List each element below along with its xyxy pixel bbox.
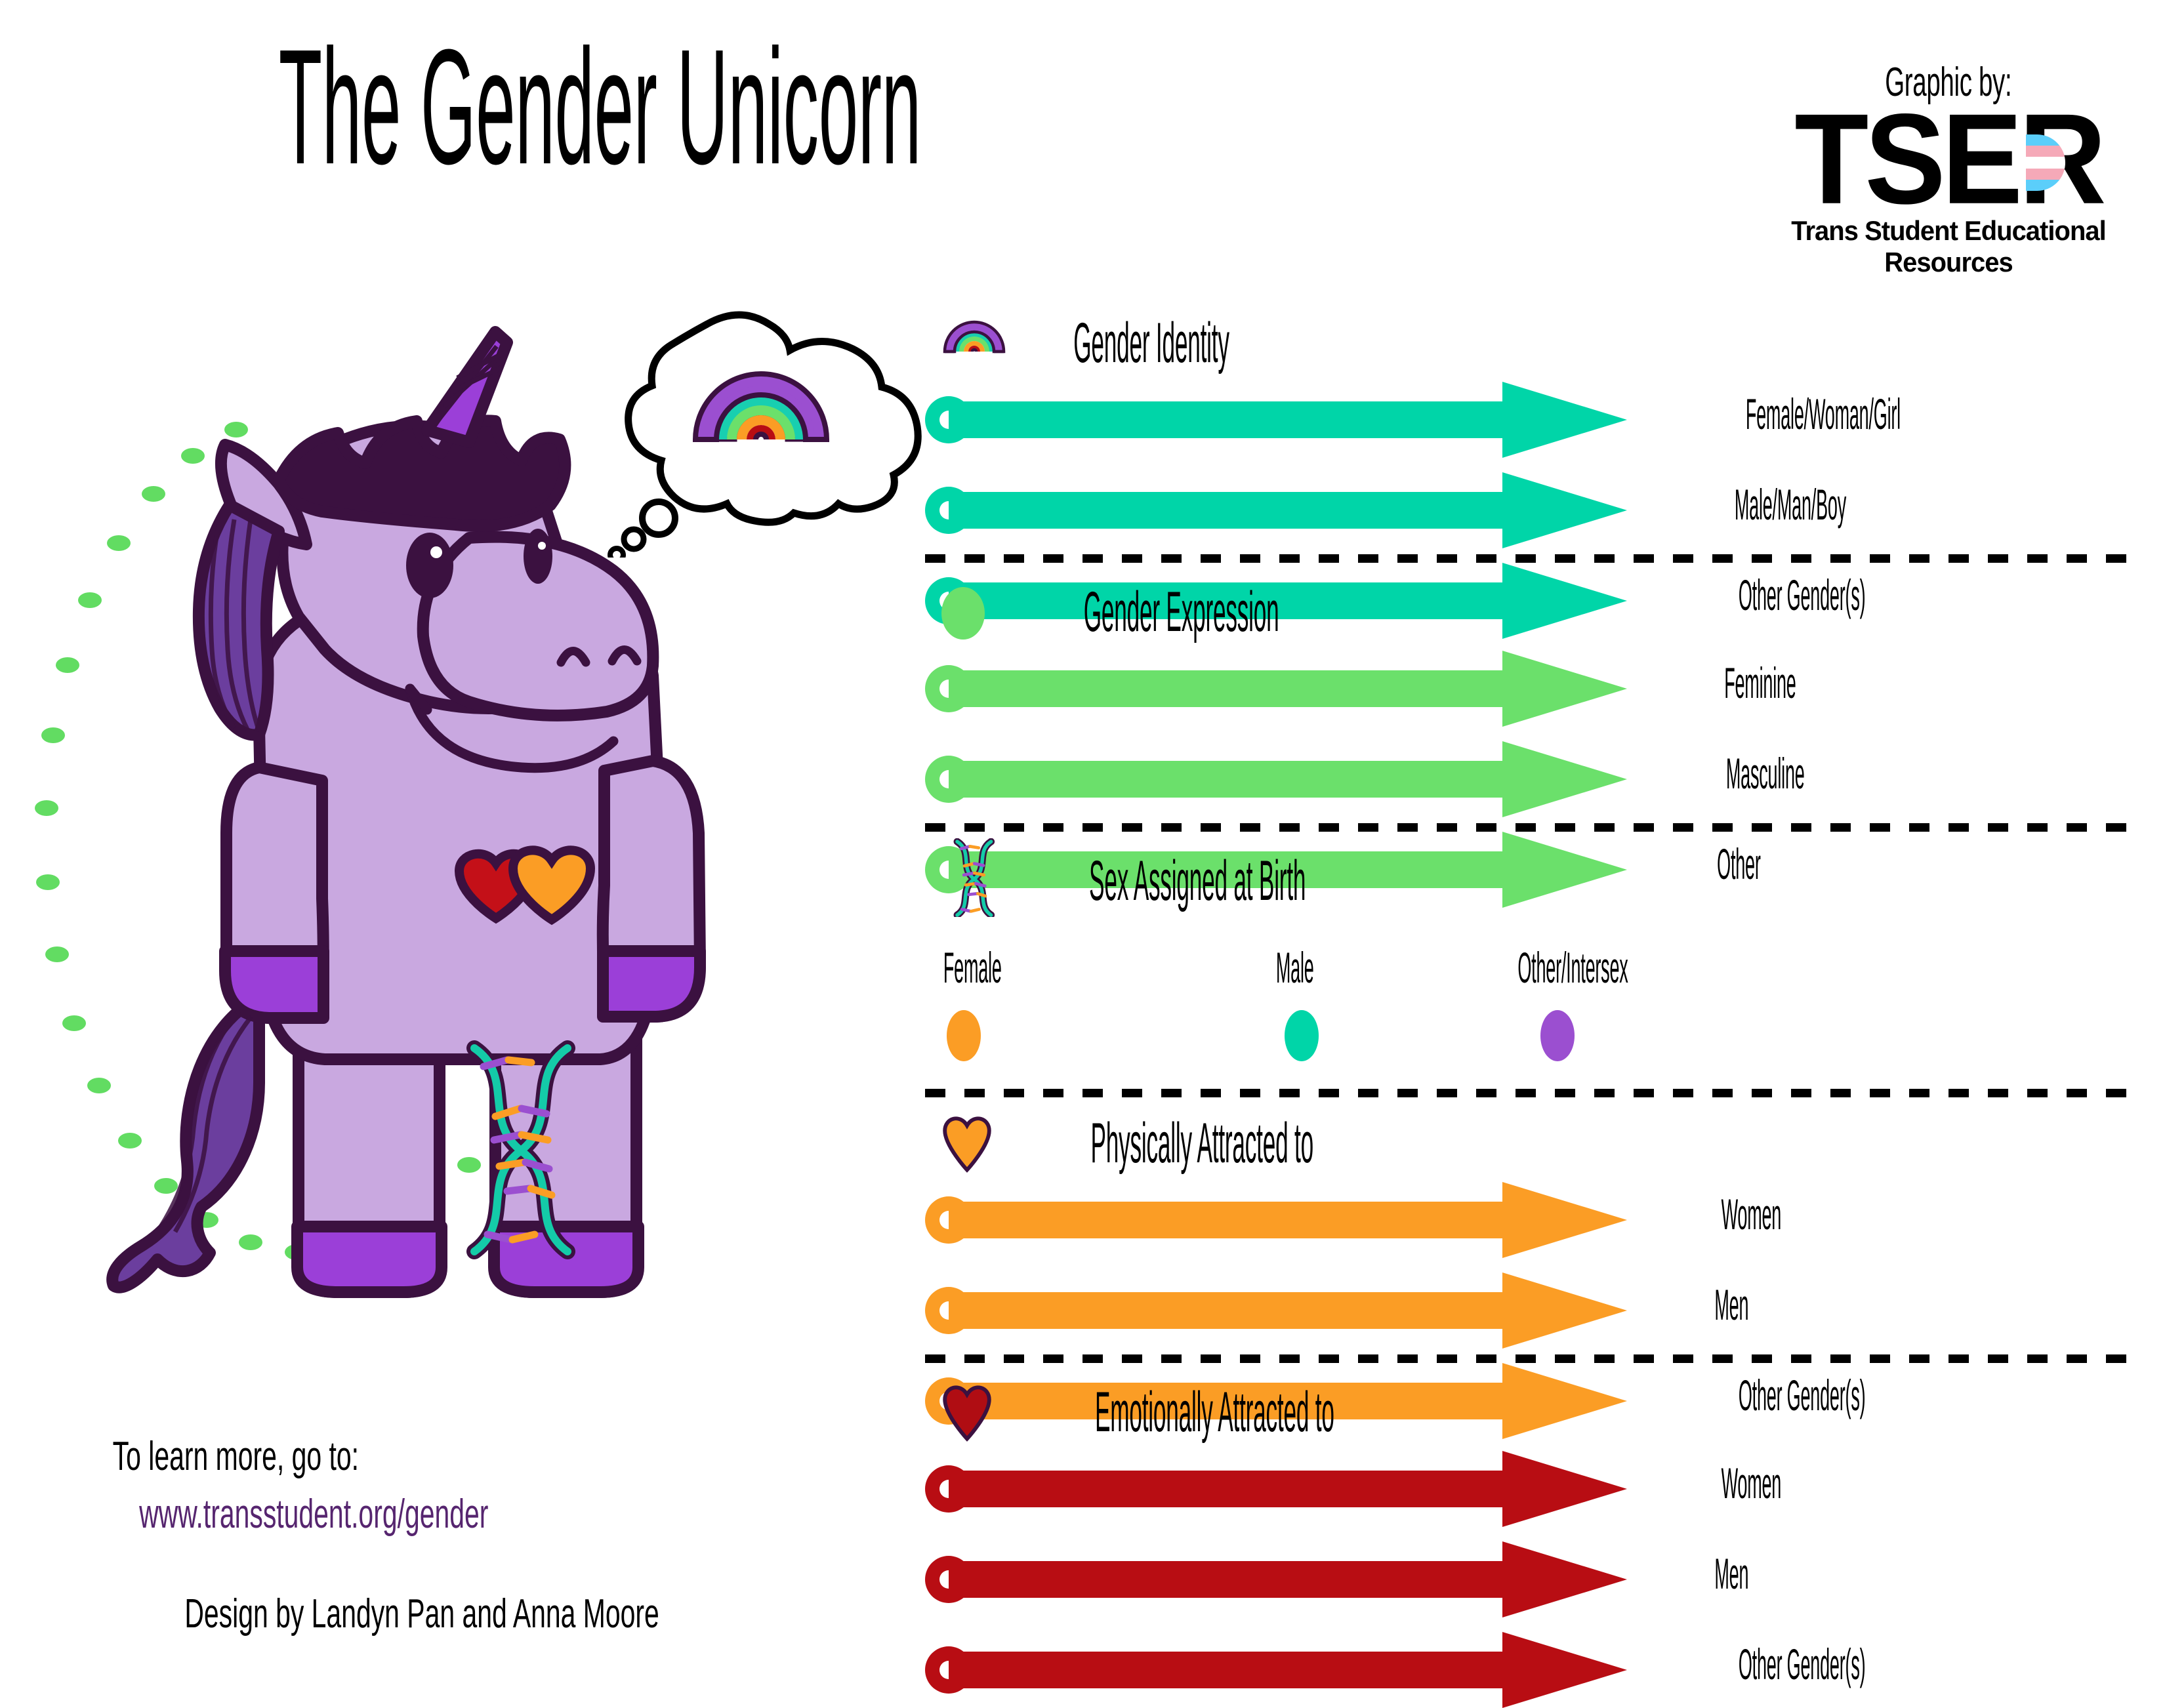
spectrum-option-label: Women — [1706, 1192, 1797, 1236]
tser-wordmark: TSER — [1765, 106, 2132, 214]
section-heading-text: Gender Expression — [1084, 584, 1279, 640]
spectrum-option-text: Other Gender(s) — [1739, 1373, 1866, 1417]
orange-heart-icon — [941, 1112, 993, 1176]
section-divider — [925, 554, 2135, 563]
red-heart-icon — [941, 1381, 993, 1445]
section-heading-emotionally-attracted-to: Emotionally Attracted to — [1033, 1384, 1396, 1440]
spectrum-option-text: Women — [1722, 1192, 1782, 1236]
learn-more-label: To learn more, go to: — [49, 1436, 423, 1477]
sab-option-text: Other/Intersex — [1517, 946, 1628, 989]
arrow-head — [1502, 472, 1627, 548]
spectrum-option-label: Women — [1706, 1461, 1797, 1505]
section-heading-text: Physically Attracted to — [1090, 1115, 1313, 1171]
section-divider — [925, 1089, 2135, 1097]
sab-option-dot[interactable] — [1285, 1010, 1319, 1061]
section-heading-gender-expression: Gender Expression — [1033, 584, 1329, 640]
spectrum-option-label: Men — [1706, 1552, 1758, 1595]
sab-option-label: Male — [1266, 946, 1323, 989]
transstudent-url-link[interactable]: www.transstudent.org/gender — [49, 1494, 578, 1535]
rainbow-icon — [941, 312, 1007, 367]
sab-option-label: Other/Intersex — [1489, 946, 1657, 989]
spectrum-option-text: Female/Woman/Girl — [1746, 392, 1901, 436]
spectrum-option-text: Men — [1714, 1552, 1748, 1595]
spectrum-option-label: Female/Woman/Girl — [1706, 392, 1941, 436]
section-heading-text: Sex Assigned at Birth — [1089, 853, 1306, 909]
sab-option-dot[interactable] — [947, 1010, 981, 1061]
arrow-head — [1502, 563, 1627, 639]
arrow-head — [1502, 1272, 1627, 1349]
spectrum-option-label: Other Gender(s) — [1706, 1373, 1898, 1417]
tser-letters: TSER — [1765, 102, 2132, 217]
section-heading-sex-assigned-at-birth: Sex Assigned at Birth — [1033, 853, 1361, 909]
spectrum-option-text: Masculine — [1726, 752, 1805, 795]
arrow-head — [1502, 382, 1627, 458]
spectrum-option-label: Other Gender(s) — [1706, 1642, 1898, 1686]
spectrum-option-text: Women — [1722, 1461, 1782, 1505]
arrow-shaft — [949, 492, 1502, 529]
spectrum-option-text: Men — [1714, 1283, 1748, 1326]
tser-tagline: Trans Student Educational Resources — [1774, 215, 2123, 278]
arrow-head — [1502, 1363, 1627, 1439]
arrow-shaft — [949, 761, 1502, 798]
arrow-head — [1502, 1632, 1627, 1708]
spectrum-option-text: Feminine — [1724, 661, 1796, 704]
page-title: The Gender Unicorn — [141, 25, 1059, 189]
section-heading-gender-identity: Gender Identity — [1033, 315, 1269, 371]
spectrum-option-text: Male/Man/Boy — [1735, 483, 1846, 526]
section-heading-text: Emotionally Attracted to — [1095, 1384, 1334, 1440]
page-title-text: The Gender Unicorn — [279, 25, 921, 189]
sab-option-label: Female — [928, 946, 1017, 989]
spectrum-option-text: Other Gender(s) — [1739, 1642, 1866, 1686]
green-dot — [41, 727, 65, 743]
thought-bubble — [590, 295, 932, 558]
arrow-shaft — [949, 1292, 1502, 1329]
green-circle-icon — [941, 587, 985, 640]
arrow-shaft — [949, 401, 1502, 438]
section-heading-physically-attracted-to: Physically Attracted to — [1033, 1115, 1371, 1171]
green-dot — [35, 800, 58, 816]
arrow-head — [1502, 1182, 1627, 1258]
spectrum-option-text: Other Gender(s) — [1739, 573, 1866, 617]
sab-option-text: Female — [943, 946, 1002, 989]
arrow-head — [1502, 1451, 1627, 1527]
green-dot — [36, 874, 60, 890]
spectrum-option-label: Other — [1706, 842, 1772, 885]
sab-option-dot[interactable] — [1540, 1010, 1575, 1061]
design-credit: Design by Landyn Pan and Anna Moore — [62, 1594, 781, 1635]
arrow-head — [1502, 832, 1627, 908]
spectrum-option-label: Male/Man/Boy — [1706, 483, 1875, 526]
arrow-shaft — [949, 670, 1502, 707]
spectrum-option-label: Other Gender(s) — [1706, 573, 1898, 617]
tser-logo: Graphic by: TSER Trans Student Education… — [1765, 62, 2132, 278]
section-divider — [925, 823, 2135, 832]
section-divider — [925, 1354, 2135, 1363]
arrow-head — [1502, 741, 1627, 817]
spectrum-option-text: Other — [1717, 842, 1761, 885]
spectrum-option-label: Masculine — [1706, 752, 1825, 795]
sab-option-text: Male — [1276, 946, 1314, 989]
arrow-shaft — [949, 1202, 1502, 1238]
spectrum-option-label: Men — [1706, 1283, 1758, 1326]
arrow-head — [1502, 1541, 1627, 1617]
dna-icon — [945, 838, 1001, 920]
spectrum-option-label: Feminine — [1706, 661, 1815, 704]
arrow-shaft — [949, 1471, 1502, 1507]
section-heading-text: Gender Identity — [1073, 315, 1229, 371]
arrow-head — [1502, 651, 1627, 727]
arrow-shaft — [949, 1561, 1502, 1598]
arrow-shaft — [949, 1652, 1502, 1688]
